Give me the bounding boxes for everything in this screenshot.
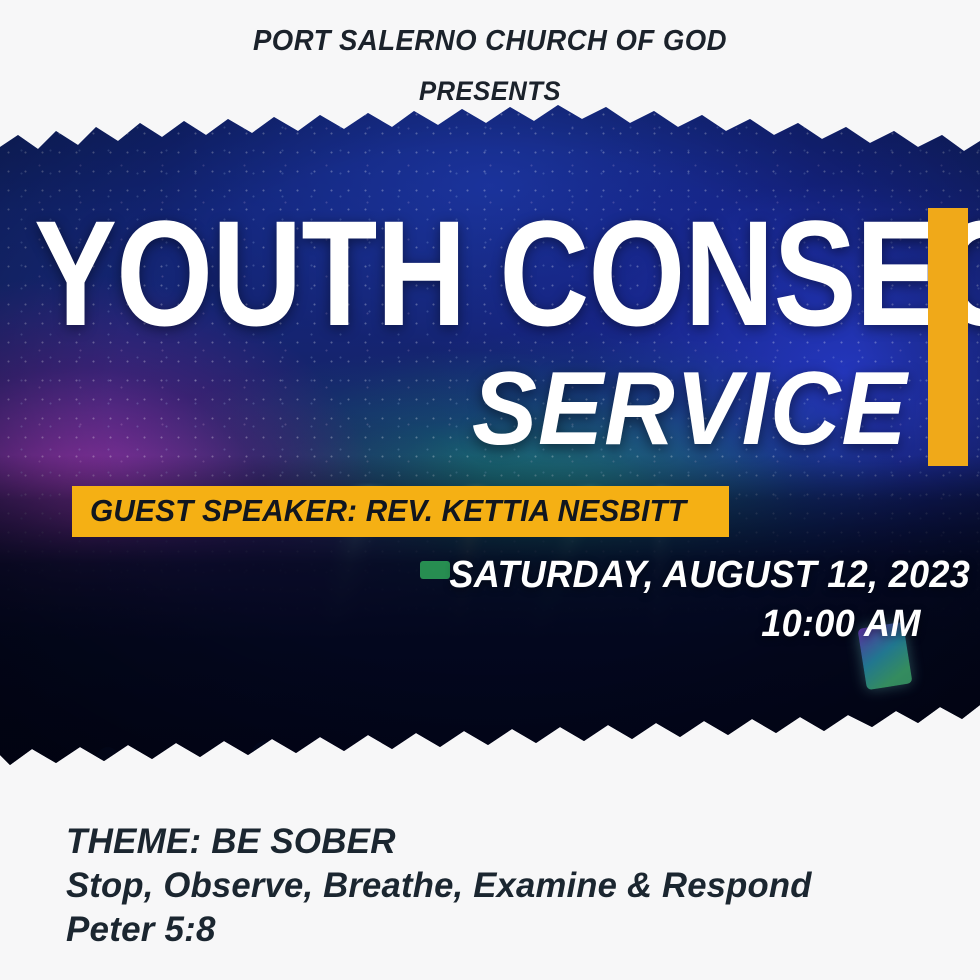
accent-bar [928,208,968,466]
presents-label: PRESENTS [25,56,956,105]
event-subtitle: SERVICE [472,357,908,461]
event-title: YOUTH CONSECRATION [34,203,980,344]
flyer-header: PORT SALERNO CHURCH OF GOD PRESENTS [0,0,980,110]
event-datetime: SATURDAY, AUGUST 12, 2023 10:00 AM [422,554,970,645]
hero-text-block: YOUTH CONSECRATION SERVICE [0,105,980,775]
guest-speaker-text: GUEST SPEAKER: REV. KETTIA NESBITT [90,495,686,526]
guest-speaker-banner: GUEST SPEAKER: REV. KETTIA NESBITT [72,486,729,537]
scripture-reference: Peter 5:8 [66,908,966,952]
event-date: SATURDAY, AUGUST 12, 2023 [449,554,970,597]
flyer-footer: THEME: BE SOBER Stop, Observe, Breathe, … [66,820,966,952]
event-flyer: PORT SALERNO CHURCH OF GOD PRESENTS YOUT… [0,0,980,980]
organization-name: PORT SALERNO CHURCH OF GOD [25,0,956,56]
theme-acronym: Stop, Observe, Breathe, Examine & Respon… [66,864,957,908]
theme-title: THEME: BE SOBER [66,820,966,864]
event-time: 10:00 AM [449,597,970,646]
